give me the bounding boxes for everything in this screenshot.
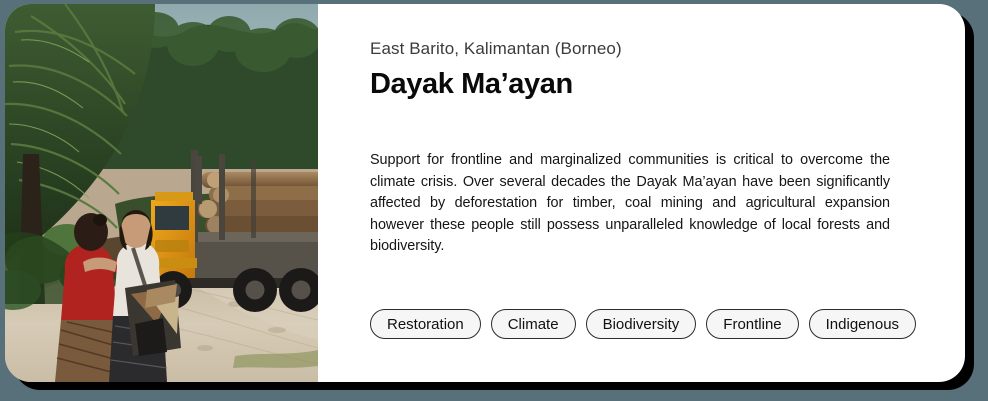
tag-label: Climate <box>508 316 559 333</box>
tag-label: Restoration <box>387 316 464 333</box>
tag-restoration[interactable]: Restoration <box>370 309 481 339</box>
community-profile-card: East Barito, Kalimantan (Borneo) Dayak M… <box>5 4 965 382</box>
tag-climate[interactable]: Climate <box>491 309 576 339</box>
page-title: Dayak Ma’ayan <box>370 66 890 102</box>
location-label: East Barito, Kalimantan (Borneo) <box>370 38 890 60</box>
community-photo <box>5 4 318 382</box>
card-content: East Barito, Kalimantan (Borneo) Dayak M… <box>318 4 965 382</box>
tag-list: Restoration Climate Biodiversity Frontli… <box>370 309 916 339</box>
tag-biodiversity[interactable]: Biodiversity <box>586 309 697 339</box>
page-root: East Barito, Kalimantan (Borneo) Dayak M… <box>0 0 988 401</box>
description-paragraph: Support for frontline and marginalized c… <box>370 150 890 258</box>
tag-label: Indigenous <box>826 316 899 333</box>
photo-logging-truck-and-villagers <box>5 4 318 382</box>
tag-indigenous[interactable]: Indigenous <box>809 309 916 339</box>
tag-label: Frontline <box>723 316 781 333</box>
tag-frontline[interactable]: Frontline <box>706 309 798 339</box>
tag-label: Biodiversity <box>603 316 680 333</box>
